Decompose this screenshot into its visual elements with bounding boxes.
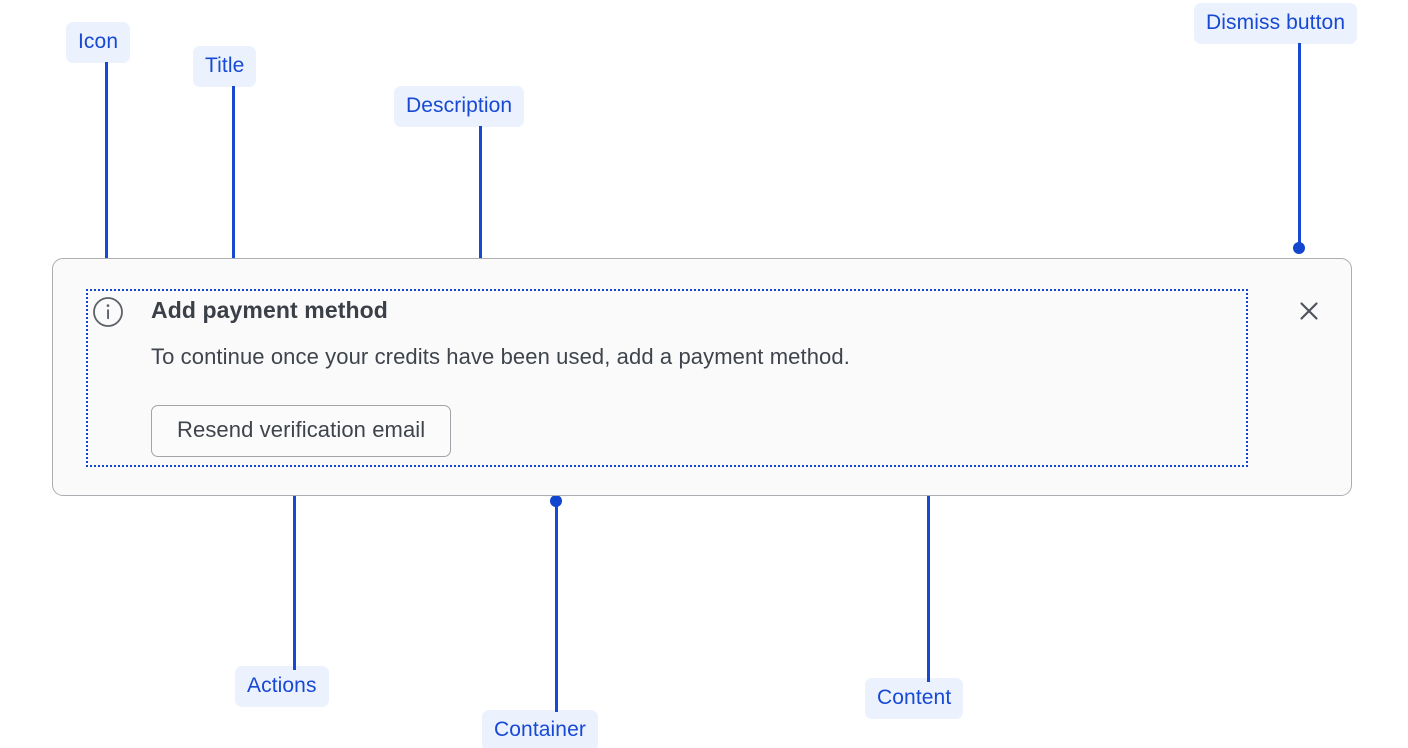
alert-container: Add payment method To continue once your… bbox=[52, 258, 1352, 496]
alert-content: Add payment method To continue once your… bbox=[86, 289, 1248, 467]
annotation-label-description: Description bbox=[394, 86, 524, 127]
annotated-alert-diagram: Icon Title Description Dismiss button Ac… bbox=[0, 0, 1408, 748]
connector-line-content bbox=[927, 468, 930, 682]
connector-line-dismiss bbox=[1298, 43, 1301, 248]
resend-verification-email-button[interactable]: Resend verification email bbox=[151, 405, 451, 457]
close-icon bbox=[1293, 295, 1325, 327]
info-circle-icon bbox=[92, 296, 124, 328]
dismiss-button[interactable] bbox=[1293, 295, 1325, 327]
connector-line-container bbox=[555, 502, 558, 712]
connector-line-icon bbox=[105, 62, 108, 274]
connector-dot-dismiss bbox=[1293, 242, 1305, 254]
annotation-label-icon: Icon bbox=[66, 22, 130, 63]
annotation-label-dismiss-button: Dismiss button bbox=[1194, 3, 1357, 44]
alert-title: Add payment method bbox=[151, 297, 388, 325]
annotation-label-container: Container bbox=[482, 710, 598, 748]
alert-description: To continue once your credits have been … bbox=[151, 343, 850, 372]
annotation-label-content: Content bbox=[865, 678, 963, 719]
annotation-label-actions: Actions bbox=[235, 666, 329, 707]
connector-dot-container bbox=[550, 495, 562, 507]
alert-actions: Resend verification email bbox=[151, 405, 451, 457]
annotation-label-title: Title bbox=[193, 46, 256, 87]
